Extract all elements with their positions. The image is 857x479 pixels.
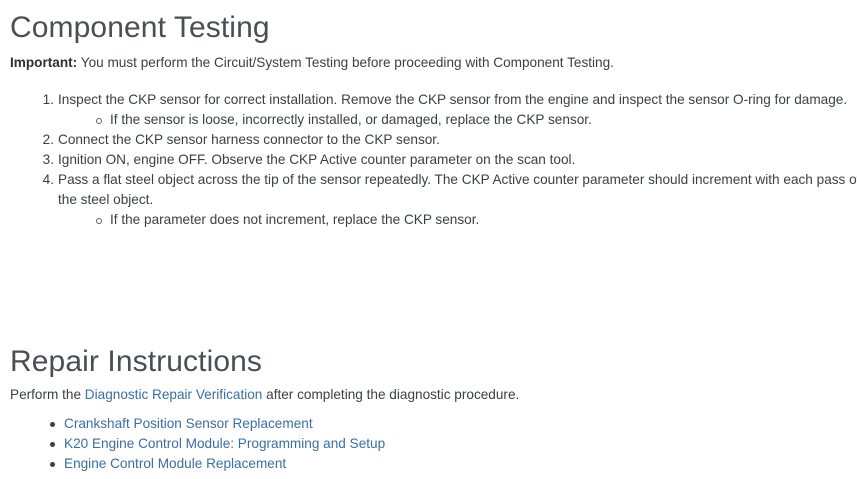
list-item: Inspect the CKP sensor for correct insta… (42, 90, 857, 130)
important-note: Important: You must perform the Circuit/… (10, 53, 840, 73)
substep-text: If the sensor is loose, incorrectly inst… (110, 112, 592, 127)
component-testing-steps: Inspect the CKP sensor for correct insta… (10, 90, 857, 230)
repair-intro-prefix: Perform the (10, 387, 85, 402)
step-text: Ignition ON, engine OFF. Observe the CKP… (58, 150, 857, 170)
list-item: Engine Control Module Replacement (50, 454, 857, 474)
list-item: Connect the CKP sensor harness connector… (42, 130, 857, 150)
link-diagnostic-repair-verification[interactable]: Diagnostic Repair Verification (85, 387, 263, 402)
page-title-component-testing: Component Testing (10, 10, 270, 46)
important-label: Important: (10, 55, 77, 70)
link-engine-control-module-replacement[interactable]: Engine Control Module Replacement (64, 456, 286, 471)
step-text: Connect the CKP sensor harness connector… (58, 130, 857, 150)
step-text: Inspect the CKP sensor for correct insta… (58, 90, 857, 110)
document-page: Component Testing Important: You must pe… (0, 0, 857, 479)
important-text: You must perform the Circuit/System Test… (77, 55, 614, 70)
step-text: Pass a flat steel object across the tip … (58, 170, 857, 210)
list-item: If the sensor is loose, incorrectly inst… (96, 110, 857, 130)
list-item: Pass a flat steel object across the tip … (42, 170, 857, 230)
link-crankshaft-position-sensor-replacement[interactable]: Crankshaft Position Sensor Replacement (64, 416, 313, 431)
list-item: Ignition ON, engine OFF. Observe the CKP… (42, 150, 857, 170)
substep-list: If the parameter does not increment, rep… (58, 210, 857, 230)
repair-intro-paragraph: Perform the Diagnostic Repair Verificati… (10, 385, 840, 405)
list-item: Crankshaft Position Sensor Replacement (50, 414, 857, 434)
page-title-repair-instructions: Repair Instructions (10, 344, 262, 380)
repair-links-list: Crankshaft Position Sensor Replacement K… (10, 414, 857, 474)
repair-intro-suffix: after completing the diagnostic procedur… (262, 387, 519, 402)
list-item: K20 Engine Control Module: Programming a… (50, 434, 857, 454)
substep-text: If the parameter does not increment, rep… (110, 212, 479, 227)
link-k20-engine-control-module-programming-and-setup[interactable]: K20 Engine Control Module: Programming a… (64, 436, 385, 451)
substep-list: If the sensor is loose, incorrectly inst… (58, 110, 857, 130)
list-item: If the parameter does not increment, rep… (96, 210, 857, 230)
